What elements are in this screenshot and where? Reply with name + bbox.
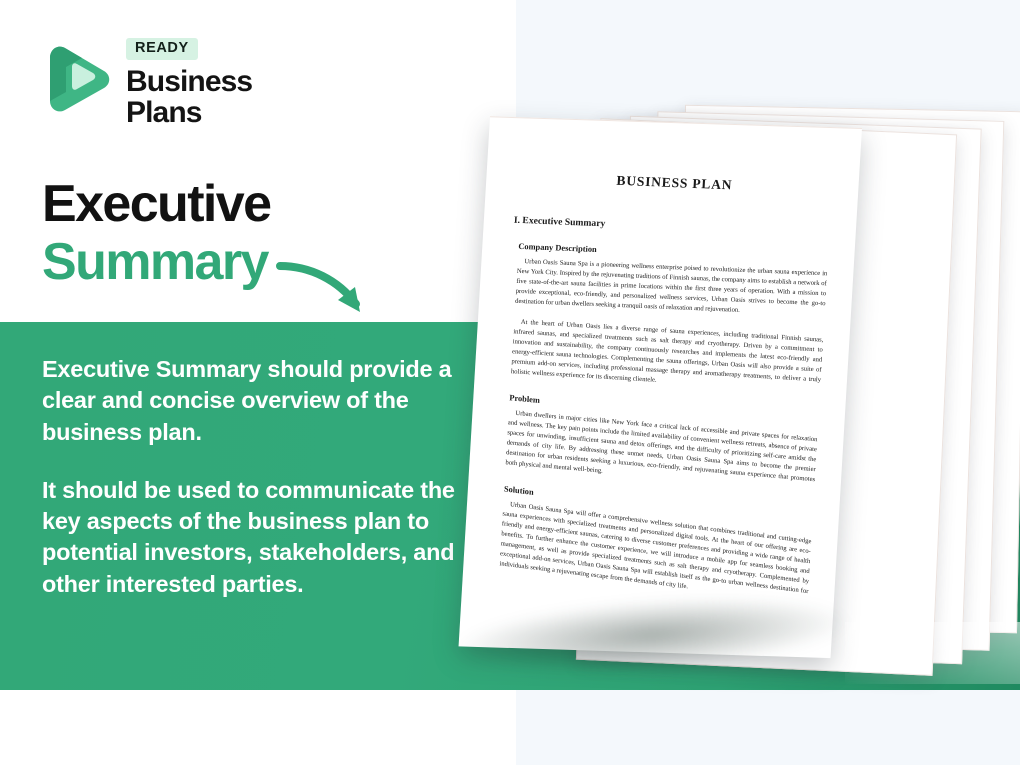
page-title: Executive Summary — [42, 178, 270, 288]
document-front-page[interactable]: BUSINESS PLAN I. Executive Summary Compa… — [459, 116, 862, 658]
document-title: BUSINESS PLAN — [516, 169, 833, 198]
curved-arrow-down-right-icon — [276, 256, 380, 324]
play-triangle-logo-icon — [42, 40, 114, 114]
document-content: BUSINESS PLAN I. Executive Summary Compa… — [459, 117, 862, 658]
page-title-line2: Summary — [42, 236, 270, 288]
ready-badge: READY — [126, 38, 198, 60]
summary-description: Executive Summary should provide a clear… — [42, 354, 494, 600]
document-stack[interactable]: BUSINESS PLAN I. Executive Summary Compa… — [470, 92, 1020, 672]
brand-logo[interactable]: READY Business Plans — [42, 38, 332, 118]
document-section-heading: I. Executive Summary — [514, 215, 830, 239]
page-title-line1: Executive — [42, 178, 270, 230]
slide-canvas: READY Business Plans Executive Summary E… — [0, 0, 1020, 765]
brand-logo-text: READY Business Plans — [126, 38, 332, 129]
document-paragraph: At the heart of Urban Oasis lies a diver… — [511, 317, 824, 395]
brand-name: Business Plans — [126, 66, 332, 129]
summary-paragraph-1: Executive Summary should provide a clear… — [42, 354, 494, 448]
document-paragraph: Urban Oasis Sauna Spa is a pioneering we… — [515, 257, 828, 319]
summary-paragraph-2: It should be used to communicate the key… — [42, 475, 494, 600]
